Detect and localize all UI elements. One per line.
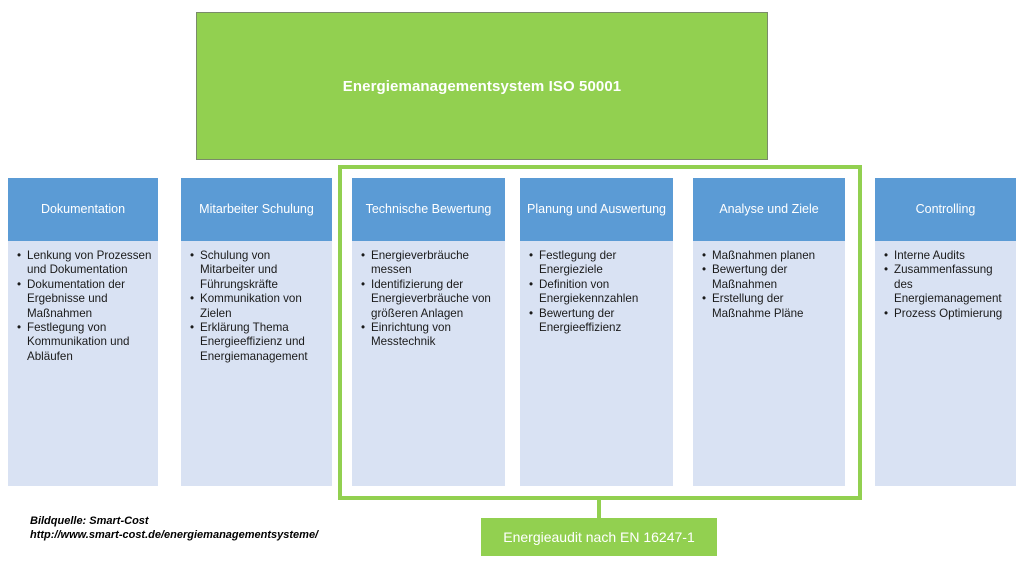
list-item: Definition von Energiekennzahlen	[539, 278, 667, 307]
list-item: Energieverbräuche messen	[371, 249, 499, 278]
list-item: Erklärung Thema Energieeffizienz und Ene…	[200, 321, 326, 364]
list-item: Festlegung der Energieziele	[539, 249, 667, 278]
column-header-controlling: Controlling	[875, 178, 1016, 241]
column-body-analyse-und-ziele: Maßnahmen planen Bewertung der Maßnahmen…	[693, 241, 845, 486]
bottom-label-energieaudit: Energieaudit nach EN 16247-1	[481, 518, 717, 556]
column-controlling: Controlling Interne Audits Zusammenfassu…	[875, 178, 1016, 486]
column-dokumentation: Dokumentation Lenkung von Prozessen und …	[8, 178, 158, 486]
list-item: Erstellung der Maßnahme Pläne	[712, 292, 839, 321]
connector-line	[597, 497, 601, 519]
column-header-technische-bewertung: Technische Bewertung	[352, 178, 505, 241]
column-planung-und-auswertung: Planung und Auswertung Festlegung der En…	[520, 178, 673, 486]
column-technische-bewertung: Technische Bewertung Energieverbräuche m…	[352, 178, 505, 486]
list-item: Schulung von Mitarbeiter und Führungskrä…	[200, 249, 326, 292]
list-item: Einrichtung von Messtechnik	[371, 321, 499, 350]
column-analyse-und-ziele: Analyse und Ziele Maßnahmen planen Bewer…	[693, 178, 845, 486]
bullet-list-mitarbeiter-schulung: Schulung von Mitarbeiter und Führungskrä…	[187, 249, 326, 364]
bullet-list-controlling: Interne Audits Zusammenfassung des Energ…	[881, 249, 1010, 321]
column-body-controlling: Interne Audits Zusammenfassung des Energ…	[875, 241, 1016, 486]
bullet-list-planung-und-auswertung: Festlegung der Energieziele Definition v…	[526, 249, 667, 335]
column-mitarbeiter-schulung: Mitarbeiter Schulung Schulung von Mitarb…	[181, 178, 332, 486]
column-body-technische-bewertung: Energieverbräuche messen Identifizierung…	[352, 241, 505, 486]
column-header-analyse-und-ziele: Analyse und Ziele	[693, 178, 845, 241]
bullet-list-technische-bewertung: Energieverbräuche messen Identifizierung…	[358, 249, 499, 350]
list-item: Dokumentation der Ergebnisse und Maßnahm…	[27, 278, 152, 321]
bullet-list-dokumentation: Lenkung von Prozessen und Dokumentation …	[14, 249, 152, 364]
list-item: Lenkung von Prozessen und Dokumentation	[27, 249, 152, 278]
column-header-dokumentation: Dokumentation	[8, 178, 158, 241]
list-item: Maßnahmen planen	[712, 249, 839, 263]
bottom-label-text: Energieaudit nach EN 16247-1	[503, 529, 694, 545]
list-item: Bewertung der Maßnahmen	[712, 263, 839, 292]
list-item: Identifizierung der Energieverbräuche vo…	[371, 278, 499, 321]
list-item: Zusammenfassung des Energiemanagement	[894, 263, 1010, 306]
list-item: Bewertung der Energieeffizienz	[539, 307, 667, 336]
column-body-mitarbeiter-schulung: Schulung von Mitarbeiter und Führungskrä…	[181, 241, 332, 486]
attribution: Bildquelle: Smart-Cost http://www.smart-…	[30, 514, 318, 542]
top-banner-title: Energiemanagementsystem ISO 50001	[343, 78, 621, 95]
column-body-dokumentation: Lenkung von Prozessen und Dokumentation …	[8, 241, 158, 486]
list-item: Prozess Optimierung	[894, 307, 1010, 321]
list-item: Kommunikation von Zielen	[200, 292, 326, 321]
attribution-url: http://www.smart-cost.de/energiemanageme…	[30, 528, 318, 542]
list-item: Interne Audits	[894, 249, 1010, 263]
column-header-planung-und-auswertung: Planung und Auswertung	[520, 178, 673, 241]
column-header-mitarbeiter-schulung: Mitarbeiter Schulung	[181, 178, 332, 241]
attribution-source: Bildquelle: Smart-Cost	[30, 514, 318, 528]
bullet-list-analyse-und-ziele: Maßnahmen planen Bewertung der Maßnahmen…	[699, 249, 839, 321]
column-body-planung-und-auswertung: Festlegung der Energieziele Definition v…	[520, 241, 673, 486]
list-item: Festlegung von Kommunikation und Abläufe…	[27, 321, 152, 364]
top-banner-energiemanagementsystem: Energiemanagementsystem ISO 50001	[196, 12, 768, 160]
